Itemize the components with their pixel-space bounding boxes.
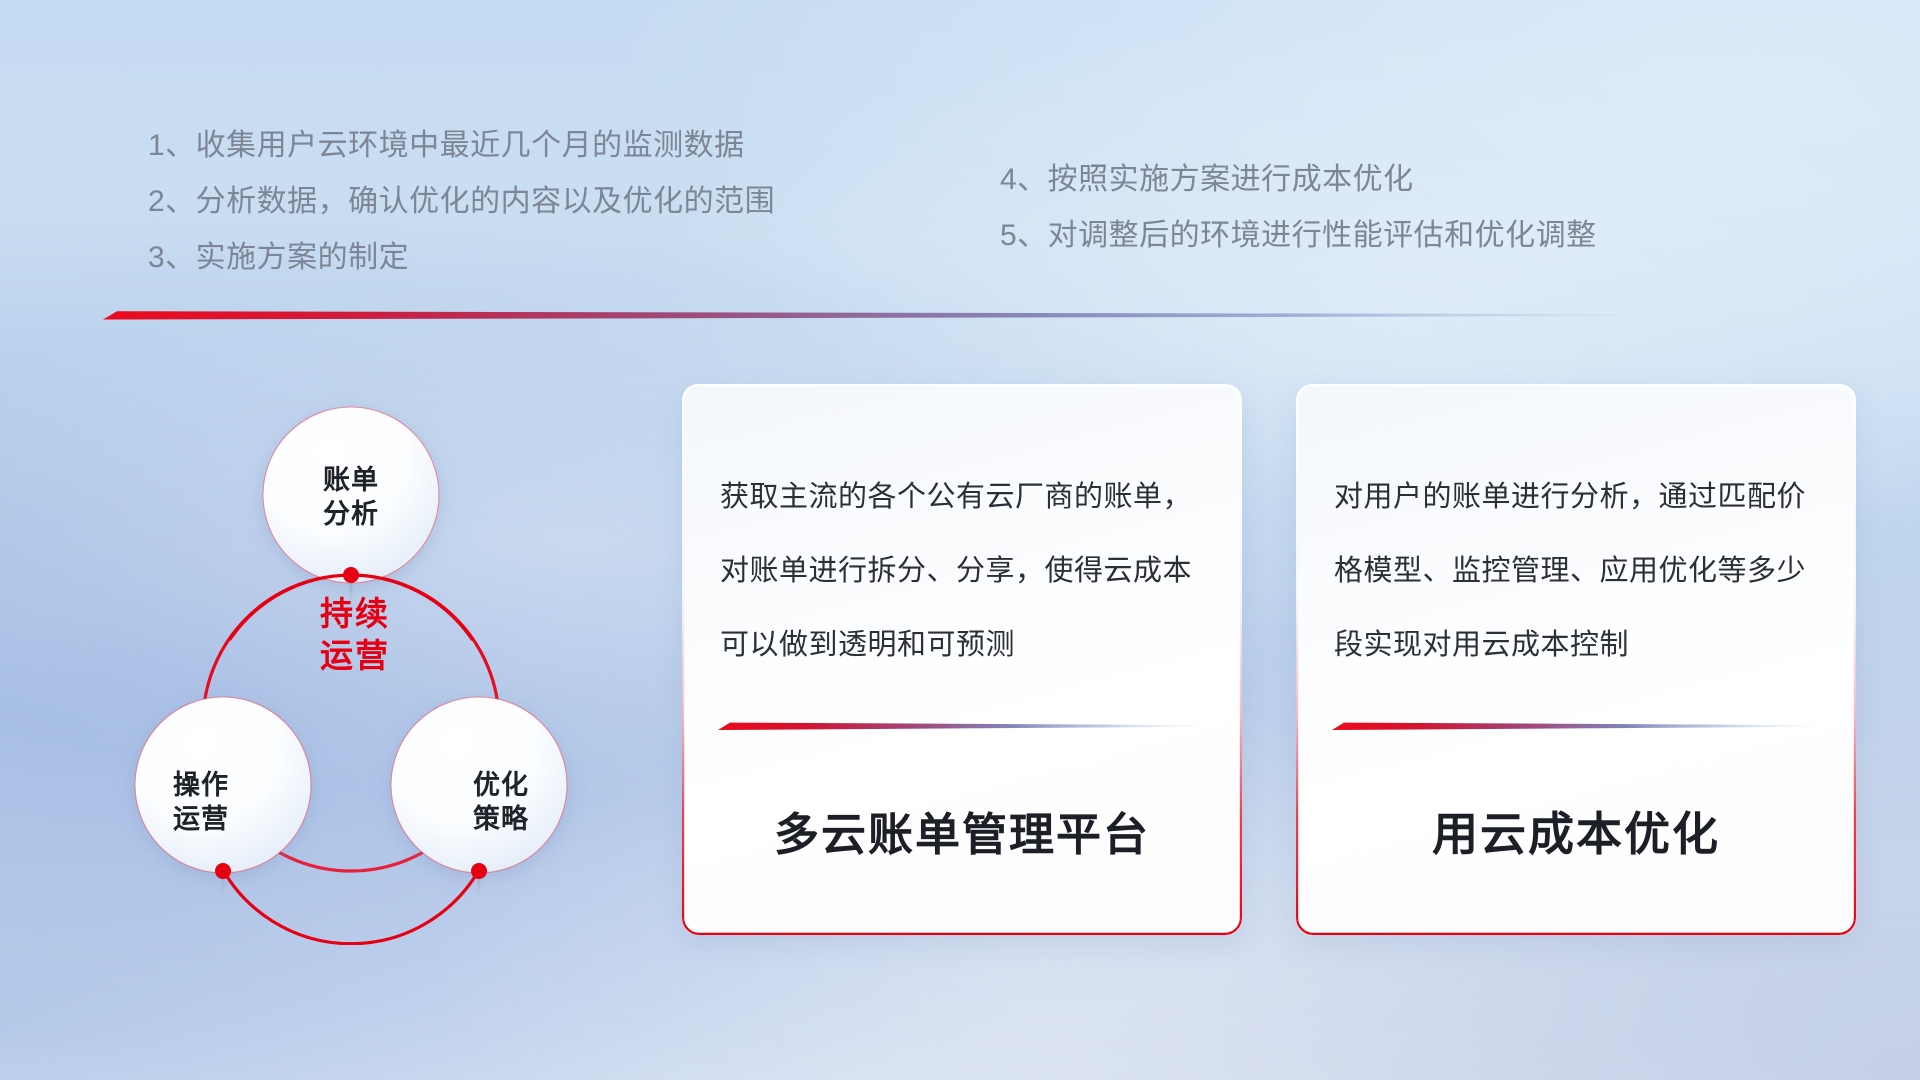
diagram-node-label-operations: 操作 运营 <box>111 768 291 836</box>
label-line-1: 优化 <box>411 768 591 802</box>
continuous-operation-diagram: 账单 分析 操作 运营 优化 策略 持续 运营 <box>95 345 675 945</box>
diagram-node-label-billing-analysis: 账单 分析 <box>261 463 441 531</box>
step-item-4: 4、按照实施方案进行成本优化 <box>1000 152 1597 208</box>
junction-dot-top <box>343 567 359 583</box>
center-label-line-2: 运营 <box>225 635 485 677</box>
card-title: 用云成本优化 <box>1296 798 1856 864</box>
diagram-center-label: 持续 运营 <box>225 593 485 677</box>
steps-left-column: 1、收集用户云环境中最近几个月的监测数据 2、分析数据，确认优化的内容以及优化的… <box>148 118 775 286</box>
card-title: 多云账单管理平台 <box>682 798 1242 863</box>
step-item-1: 1、收集用户云环境中最近几个月的监测数据 <box>148 118 775 174</box>
diagram-node-label-optimization-strategy: 优化 策略 <box>411 768 591 836</box>
steps-right-column: 4、按照实施方案进行成本优化 5、对调整后的环境进行性能评估和优化调整 <box>1000 152 1597 264</box>
center-label-line-1: 持续 <box>225 593 485 635</box>
card-body: 获取主流的各个公有云厂商的账单，对账单进行拆分、分享，使得云成本可以做到透明和可… <box>720 460 1212 682</box>
ring-arc-bottom <box>223 870 479 944</box>
junction-dot-left <box>215 863 231 879</box>
label-line-1: 账单 <box>261 463 441 497</box>
card-description: 获取主流的各个公有云厂商的账单，对账单进行拆分、分享，使得云成本可以做到透明和可… <box>720 460 1212 682</box>
feature-card-cloud-cost-optimization[interactable]: 对用户的账单进行分析，通过匹配价格模型、监控管理、应用优化等多少段实现对用云成本… <box>1296 384 1856 935</box>
junction-dot-right <box>471 863 487 879</box>
card-accent-rule <box>1332 720 1822 732</box>
card-body: 对用户的账单进行分析，通过匹配价格模型、监控管理、应用优化等多少段实现对用云成本… <box>1334 460 1826 682</box>
card-accent-rule <box>718 720 1208 732</box>
step-item-3: 3、实施方案的制定 <box>148 230 775 286</box>
card-description: 对用户的账单进行分析，通过匹配价格模型、监控管理、应用优化等多少段实现对用云成本… <box>1334 460 1826 682</box>
label-line-2: 策略 <box>411 802 591 836</box>
feature-card-multi-cloud-billing-platform[interactable]: 获取主流的各个公有云厂商的账单，对账单进行拆分、分享，使得云成本可以做到透明和可… <box>682 384 1242 935</box>
label-line-1: 操作 <box>111 768 291 802</box>
step-item-2: 2、分析数据，确认优化的内容以及优化的范围 <box>148 174 775 230</box>
label-line-2: 分析 <box>261 497 441 531</box>
step-item-5: 5、对调整后的环境进行性能评估和优化调整 <box>1000 208 1597 264</box>
label-line-2: 运营 <box>111 802 291 836</box>
